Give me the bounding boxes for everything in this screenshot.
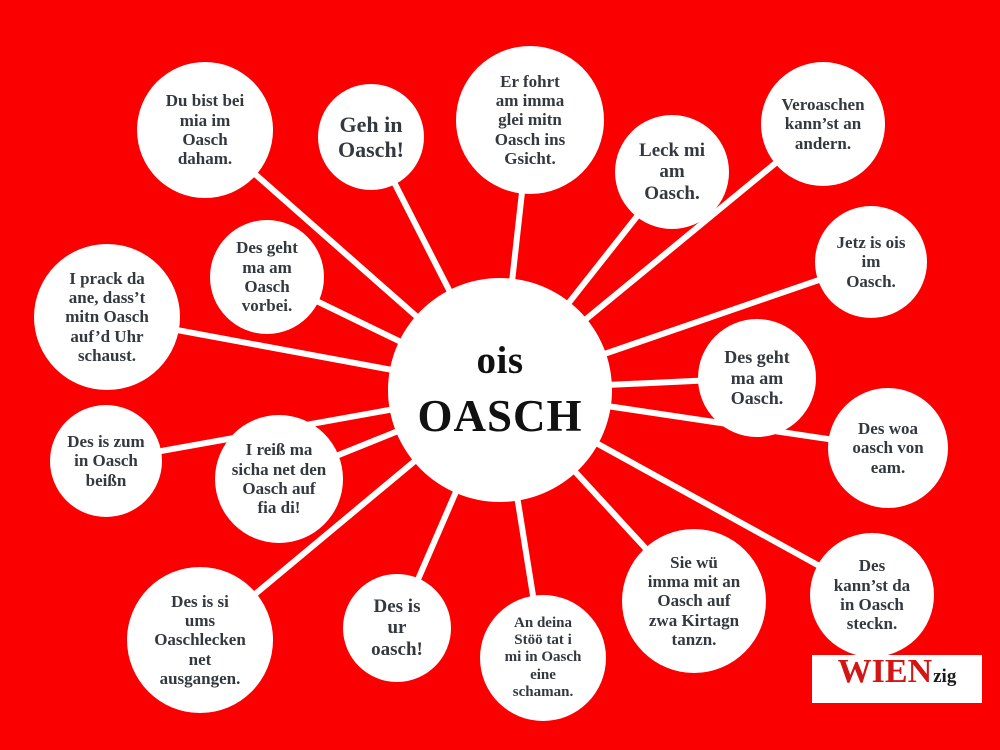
phrase-bubble-des-is-ur-oasch[interactable]: Des is ur oasch!	[343, 574, 451, 682]
connector-line-i-prack-da-ane-dasst-mitn-oasch-aufd-uhr-schaust	[176, 330, 393, 370]
phrase-bubble-veroaschen-kannst-an-andern[interactable]: Veroaschen kann’st an andern.	[761, 62, 885, 186]
phrase-bubble-des-kannst-da-in-oasch-steckn[interactable]: Des kann’st da in Oasch steckn.	[810, 533, 934, 657]
connector-line-an-deina-stoeoe-tat-i-mi-in-oasch-eine-schaman	[517, 498, 533, 599]
phrase-bubble-leck-mi-am-oasch[interactable]: Leck mi am Oasch.	[615, 115, 729, 229]
connector-line-er-fohrt-am-imma-glei-mitn-oasch-ins-gsicht	[512, 191, 522, 282]
phrase-bubble-des-geht-ma-am-oasch[interactable]: Des geht ma am Oasch.	[698, 319, 816, 437]
phrase-bubble-er-fohrt-am-imma-glei-mitn-oasch-ins-gsicht[interactable]: Er fohrt am imma glei mitn Oasch ins Gsi…	[456, 46, 604, 194]
phrase-bubble-geh-in-oasch[interactable]: Geh in Oasch!	[318, 84, 424, 190]
center-bubble: ois OASCH	[388, 278, 612, 502]
phrase-bubble-jetz-is-ois-im-oasch[interactable]: Jetz is ois im Oasch.	[815, 206, 927, 318]
phrase-bubble-des-woa-oasch-von-eam[interactable]: Des woa oasch von eam.	[828, 388, 948, 508]
phrase-bubble-an-deina-stoeoe-tat-i-mi-in-oasch-eine-schaman[interactable]: An deina Stöö tat i mi in Oasch eine sch…	[480, 595, 606, 721]
center-line-1: ois	[476, 341, 523, 380]
connector-line-des-is-ur-oasch	[417, 490, 456, 581]
phrase-bubble-sie-wue-imma-mit-an-oasch-auf-zwa-kirtagn-tanzn[interactable]: Sie wü imma mit an Oasch auf zwa Kirtagn…	[622, 529, 766, 673]
logo-zig-text: zig	[933, 667, 956, 686]
connector-line-des-geht-ma-am-oasch-vorbei	[316, 301, 402, 343]
phrase-bubble-i-prack-da-ane-dasst-mitn-oasch-aufd-uhr-schaust[interactable]: I prack da ane, dass’t mitn Oasch auf’d …	[34, 244, 180, 390]
logo-wien-text: WIEN	[838, 655, 932, 689]
connector-line-des-geht-ma-am-oasch	[609, 381, 701, 385]
phrase-bubble-des-is-si-ums-oaschlecken-net-ausgangen[interactable]: Des is si ums Oaschlecken net ausgangen.	[127, 567, 273, 713]
connector-line-geh-in-oasch	[394, 182, 451, 293]
phrase-bubble-des-geht-ma-am-oasch-vorbei[interactable]: Des geht ma am Oasch vorbei.	[210, 220, 324, 334]
phrase-bubble-i-reiss-ma-sicha-net-den-oasch-auf-fia-di[interactable]: I reiß ma sicha net den Oasch auf fia di…	[215, 415, 343, 543]
wienzig-logo[interactable]: WIENzig	[812, 655, 982, 703]
center-line-2: OASCH	[417, 394, 582, 439]
connector-line-sie-wue-imma-mit-an-oasch-auf-zwa-kirtagn-tanzn	[574, 470, 648, 550]
phrase-bubble-des-is-zum-in-oasch-beissn[interactable]: Des is zum in Oasch beißn	[50, 405, 162, 517]
connector-line-i-reiss-ma-sicha-net-den-oasch-auf-fia-di	[336, 431, 399, 456]
poster-canvas: Du bist bei mia im Oasch daham.Geh in Oa…	[0, 0, 1000, 750]
phrase-bubble-du-bist-bei-mia-im-oasch-daham[interactable]: Du bist bei mia im Oasch daham.	[137, 62, 273, 198]
connector-line-leck-mi-am-oasch	[568, 214, 639, 304]
